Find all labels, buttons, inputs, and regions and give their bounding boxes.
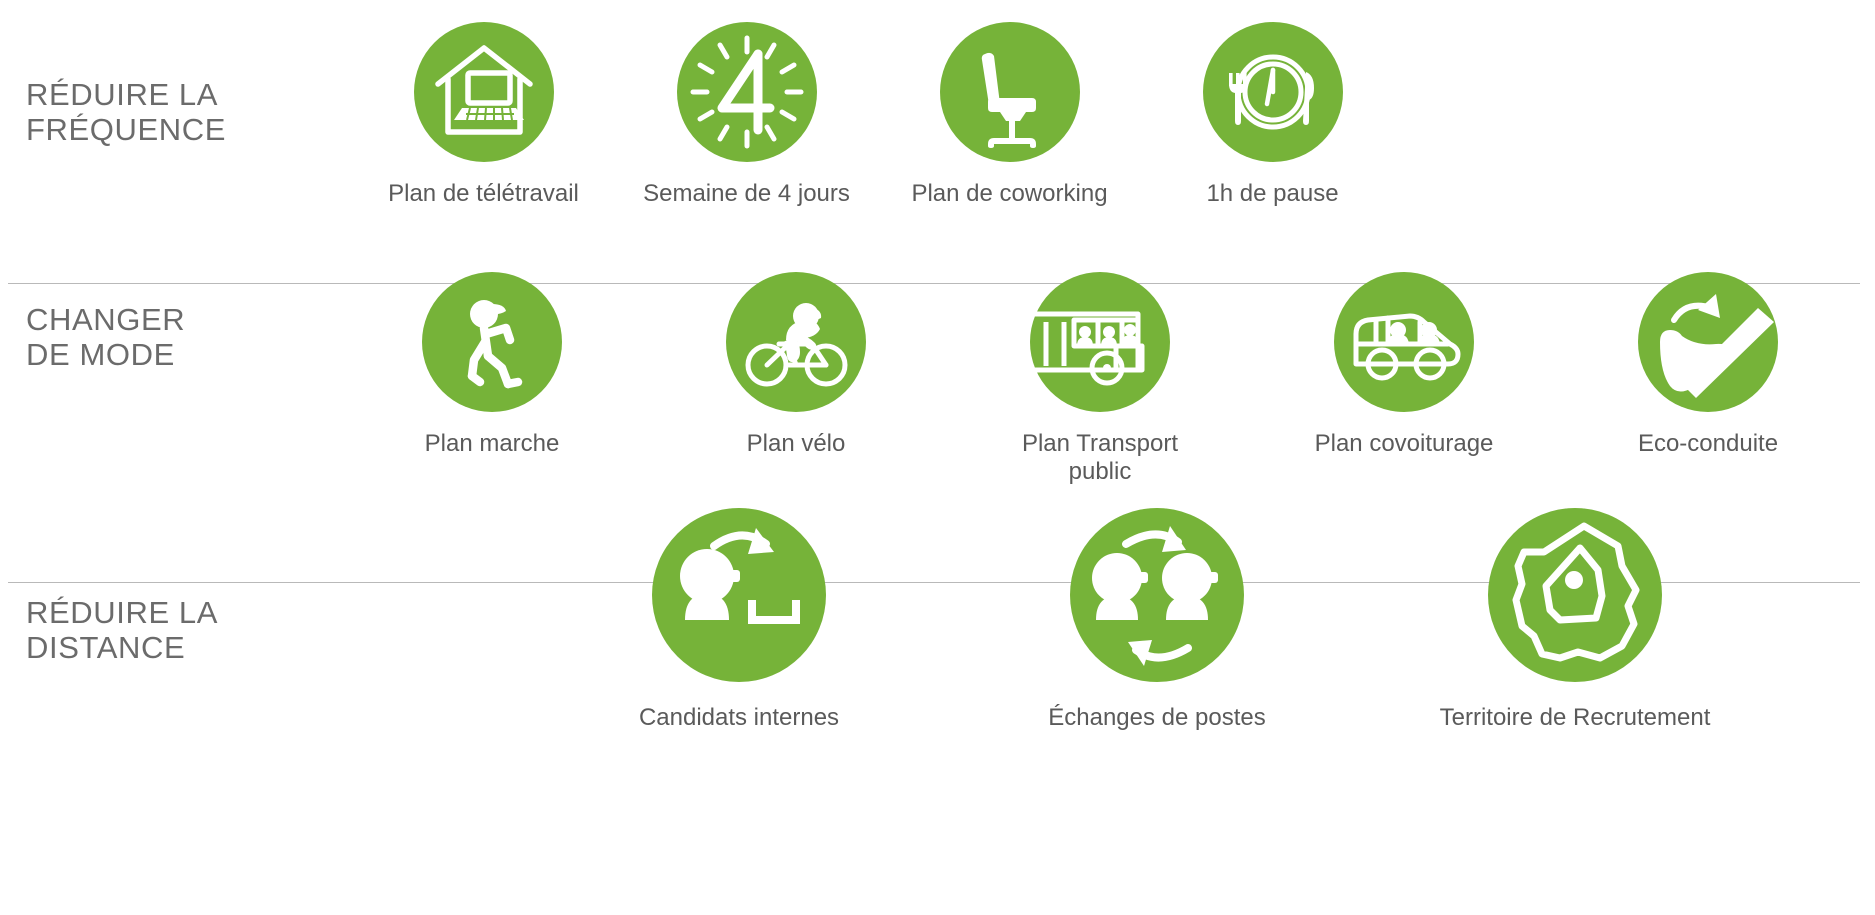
item-label: Territoire de Recrutement [1440, 704, 1711, 732]
bus-icon [1030, 272, 1170, 412]
item-semaine-de-4-jours[interactable]: Semaine de 4 jours [615, 22, 878, 208]
category-title-reduire-la-frequence: RÉDUIRE LA FRÉQUENCE [26, 78, 226, 147]
carpool-car-icon [1334, 272, 1474, 412]
two-person-swap-icon [1070, 508, 1244, 682]
item-plan-de-coworking[interactable]: Plan de coworking [878, 22, 1141, 208]
person-to-vacancy-icon [652, 508, 826, 682]
row-3-items: Candidats internes [530, 508, 1840, 732]
mobility-measures-infographic: RÉDUIRE LA FRÉQUENCE [0, 0, 1875, 915]
eco-driving-foot-pedal-icon [1638, 272, 1778, 412]
item-label: Plan covoiturage [1315, 430, 1494, 458]
item-label: Semaine de 4 jours [643, 180, 850, 208]
plate-clock-cutlery-icon [1203, 22, 1343, 162]
cyclist-icon [726, 272, 866, 412]
walking-person-icon [422, 272, 562, 412]
category-title-changer-de-mode: CHANGER DE MODE [26, 303, 185, 372]
item-label: Plan de télétravail [388, 180, 579, 208]
item-echanges-de-postes[interactable]: Échanges de postes [948, 508, 1366, 732]
item-plan-velo[interactable]: Plan vélo [644, 272, 948, 486]
category-title-reduire-la-distance: RÉDUIRE LA DISTANCE [26, 596, 218, 665]
item-label: 1h de pause [1206, 180, 1338, 208]
item-plan-covoiturage[interactable]: Plan covoiturage [1252, 272, 1556, 486]
item-plan-de-teletravail[interactable]: Plan de télétravail [352, 22, 615, 208]
item-label: Eco-conduite [1638, 430, 1778, 458]
item-label: Échanges de postes [1048, 704, 1266, 732]
item-label: Candidats internes [639, 704, 839, 732]
item-eco-conduite[interactable]: Eco-conduite [1556, 272, 1860, 486]
item-label: Plan de coworking [911, 180, 1107, 208]
item-plan-marche[interactable]: Plan marche [340, 272, 644, 486]
item-1h-de-pause[interactable]: 1h de pause [1141, 22, 1404, 208]
house-laptop-icon [414, 22, 554, 162]
row-1-items: Plan de télétravail [352, 22, 1852, 208]
item-territoire-de-recrutement[interactable]: Territoire de Recrutement [1366, 508, 1784, 732]
item-label: Plan vélo [747, 430, 846, 458]
territory-map-icon [1488, 508, 1662, 682]
item-label: Plan Transport public [1022, 430, 1178, 486]
item-plan-transport-public[interactable]: Plan Transport public [948, 272, 1252, 486]
office-chair-icon [940, 22, 1080, 162]
item-candidats-internes[interactable]: Candidats internes [530, 508, 948, 732]
four-day-clock-icon [677, 22, 817, 162]
item-label: Plan marche [425, 430, 560, 458]
row-2-items: Plan marche [340, 272, 1860, 486]
